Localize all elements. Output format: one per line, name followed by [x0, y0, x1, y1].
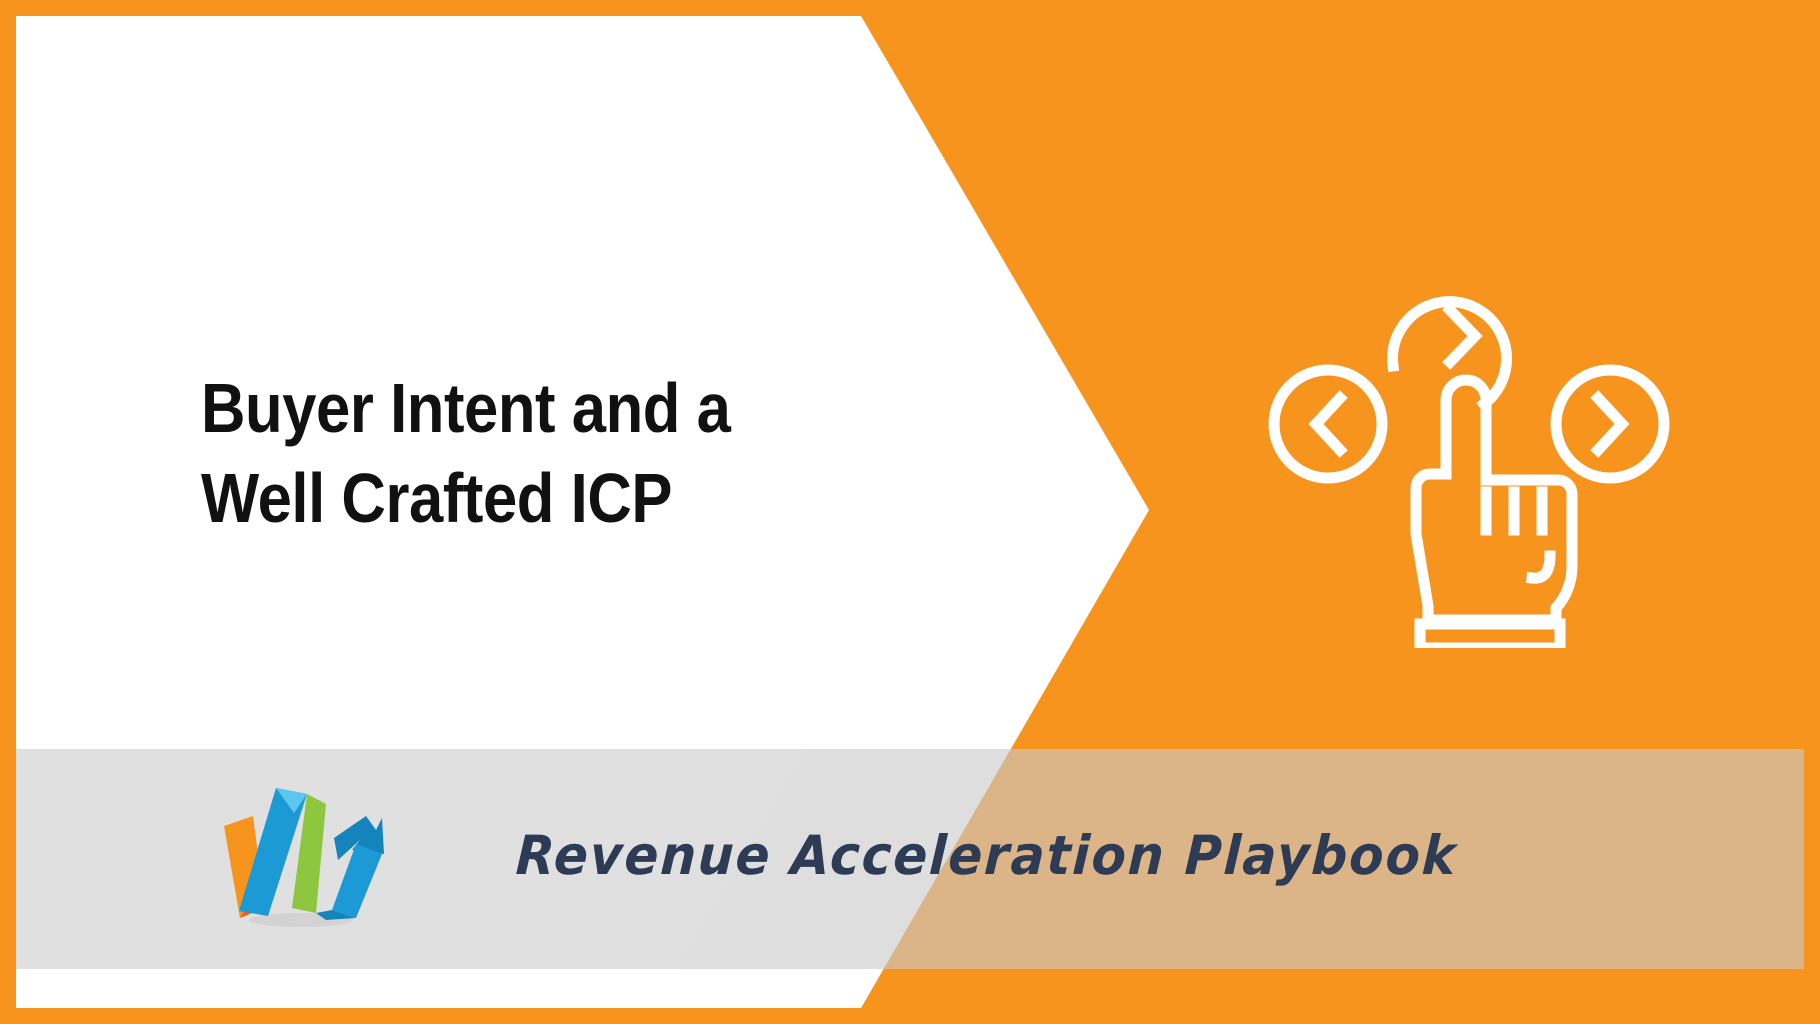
title-line-1: Buyer Intent and a [201, 364, 870, 454]
slide-canvas: Buyer Intent and a Well Crafted ICP [0, 0, 1820, 1024]
page-title: Buyer Intent and a Well Crafted ICP [201, 364, 961, 543]
chevron-left-circle-icon [1274, 370, 1382, 478]
slide-inner-canvas: Buyer Intent and a Well Crafted ICP [16, 16, 1804, 1008]
footer-tagline: Revenue Acceleration Playbook [514, 824, 1458, 887]
pointing-hand-with-navigation-chevrons-icon [1260, 248, 1710, 648]
brand-logo [206, 768, 396, 938]
pointing-hand-icon [1416, 380, 1572, 648]
title-line-2: Well Crafted ICP [201, 454, 870, 544]
chevron-right-circle-icon [1556, 370, 1664, 478]
